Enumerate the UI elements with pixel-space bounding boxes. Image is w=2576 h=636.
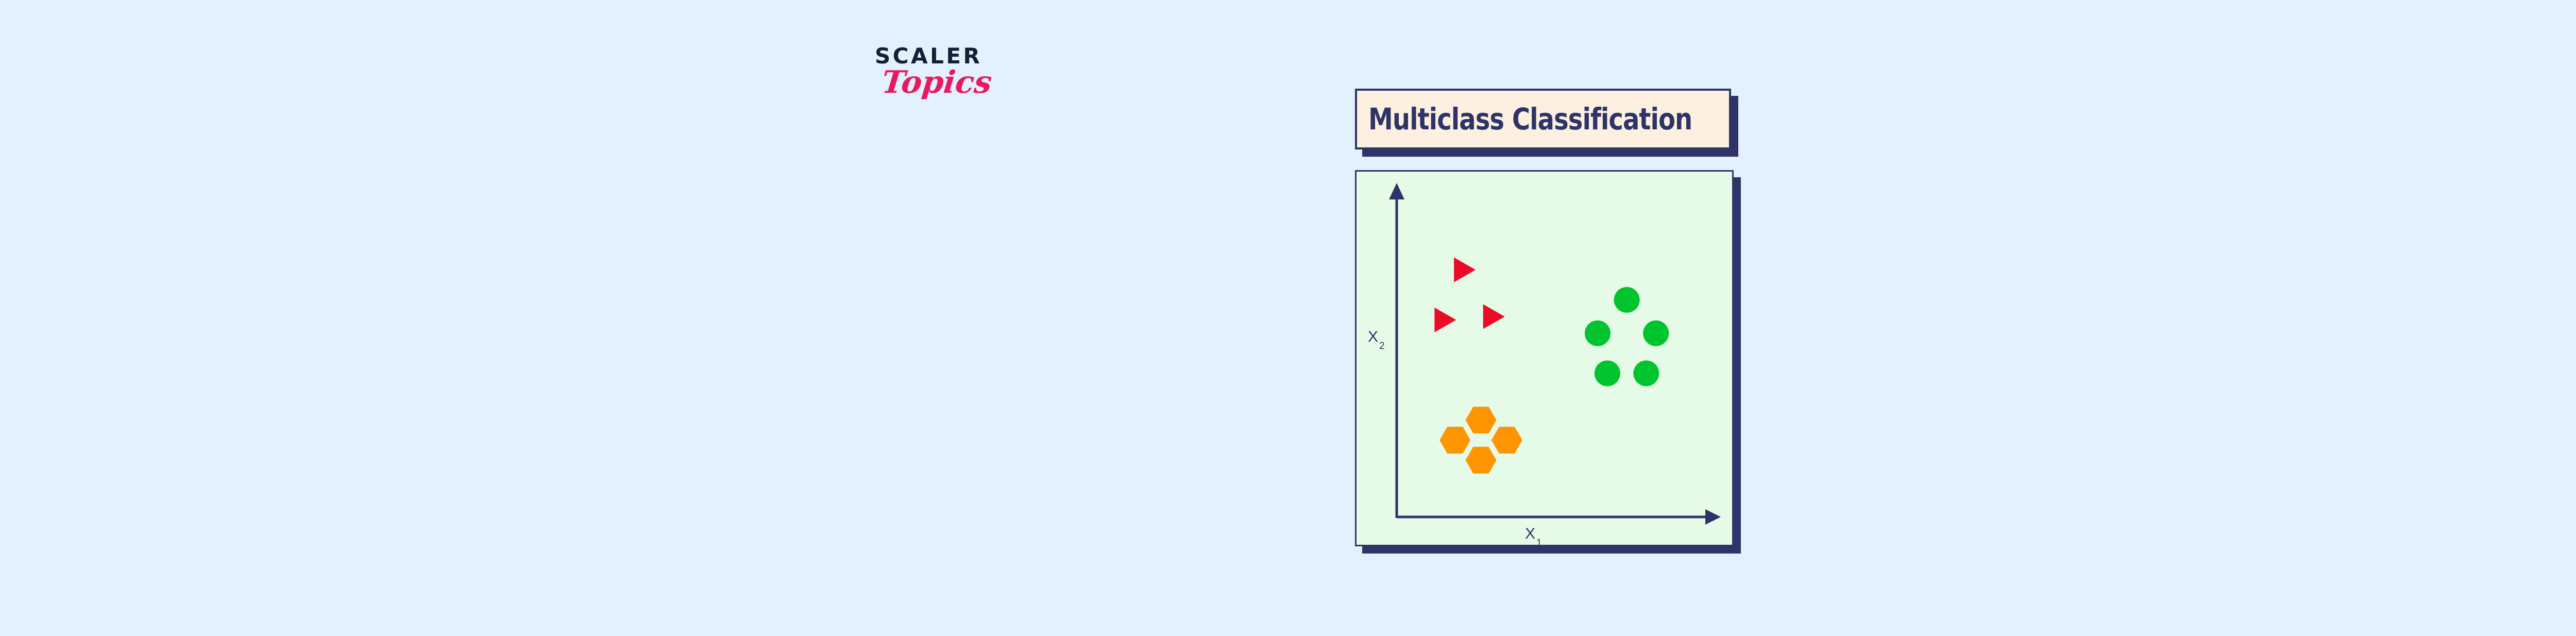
scaler-topics-logo: SCALER Topics (871, 45, 1025, 128)
series-class-a (1434, 257, 1504, 332)
y-axis-label-subscript: 2 (1379, 341, 1385, 352)
data-point-circle (1585, 321, 1611, 346)
data-point-circle (1643, 321, 1669, 346)
x-axis-label: X 1 (1525, 525, 1542, 546)
x-axis-label-text: X (1525, 525, 1535, 542)
scatter-plot: X 2 X 1 (1357, 172, 1734, 546)
data-point-circle (1614, 287, 1640, 313)
data-point-circle (1633, 360, 1659, 386)
data-point-hexagon (1439, 427, 1470, 454)
data-point-hexagon (1466, 447, 1497, 474)
series-class-c (1439, 407, 1522, 474)
data-point-triangle (1454, 257, 1476, 282)
y-axis-label: X 2 (1368, 328, 1385, 352)
logo-wordmark-scaler: SCALER (875, 45, 982, 67)
x-axis-label-subscript: 1 (1536, 538, 1542, 546)
chart-panel: X 2 X 1 (1355, 170, 1734, 546)
data-markers-layer (1434, 257, 1669, 473)
page-canvas: SCALER Topics Multiclass Classification (0, 0, 2576, 636)
y-axis-arrowhead (1389, 183, 1404, 199)
page-title: Multiclass Classification (1368, 102, 1692, 137)
data-point-hexagon (1466, 407, 1497, 433)
y-axis-label-text: X (1368, 328, 1378, 345)
logo-script-topics: Topics (880, 67, 993, 98)
data-point-triangle (1483, 304, 1505, 329)
title-card: Multiclass Classification (1355, 89, 1731, 149)
title-card-face: Multiclass Classification (1355, 89, 1731, 149)
data-point-circle (1595, 360, 1620, 386)
series-class-b (1585, 287, 1669, 387)
data-point-hexagon (1492, 427, 1522, 454)
x-axis-arrowhead (1705, 509, 1721, 525)
axes-group (1389, 183, 1721, 525)
data-point-triangle (1434, 308, 1456, 332)
chart-panel-face: X 2 X 1 (1355, 170, 1734, 546)
